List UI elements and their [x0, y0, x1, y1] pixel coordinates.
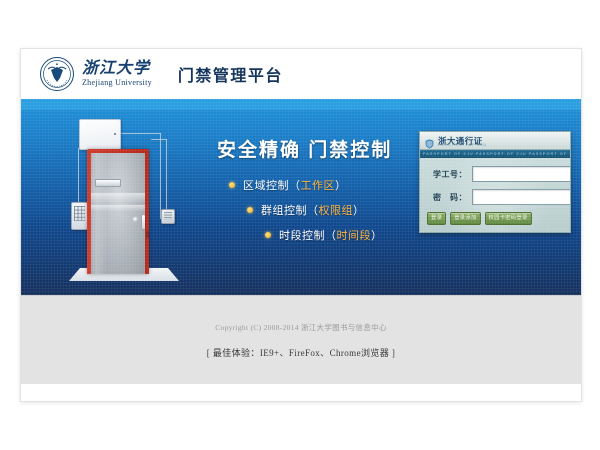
shield-icon	[425, 136, 434, 146]
door-sheen	[91, 153, 107, 274]
list-item: 区域控制（工作区）	[229, 177, 383, 193]
wire-controller-down	[160, 133, 161, 219]
browser-support-note: [ 最佳体验：IE9+、FireFox、Chrome浏览器 ]	[207, 346, 395, 359]
campus-card-login-button[interactable]: 校园卡密码登录	[485, 212, 532, 225]
card-reader	[161, 209, 175, 224]
keypad-keys-icon	[74, 206, 85, 221]
zju-seal-icon	[39, 56, 75, 92]
wire-reader-down	[166, 139, 167, 215]
feature-prefix: 群组控制（	[261, 202, 319, 218]
access-controller-box	[79, 119, 121, 150]
password-label: 密 码：	[427, 192, 467, 203]
feature-highlight: 权限组	[319, 202, 354, 218]
username-input[interactable]	[472, 166, 570, 182]
feature-highlight: 工作区	[301, 177, 336, 193]
banner-headline: 安全精确 门禁控制	[217, 135, 392, 162]
logo-name-cn: 浙江大学	[82, 61, 152, 77]
banner-top-band	[21, 99, 581, 110]
login-button[interactable]: 登录	[427, 212, 446, 225]
wire-reader-branch	[151, 139, 167, 140]
login-add-button[interactable]: 登录添加	[450, 212, 480, 225]
door-knob-icon	[133, 217, 138, 222]
username-label: 学工号：	[427, 169, 467, 180]
feature-prefix: 区域控制（	[243, 177, 301, 193]
login-panel-subtitle: PASSPORT OF ZJU	[438, 143, 487, 147]
list-item: 时段控制（时间段）	[265, 227, 383, 243]
login-form: 学工号： 密 码： 登录 登录添加 校园卡密码登录	[420, 158, 570, 232]
feature-suffix: ）	[353, 202, 365, 218]
bullet-dot-icon	[247, 207, 253, 213]
site-header: 浙江大学 Zhejiang University 门禁管理平台	[21, 49, 581, 99]
login-panel-titlebar: 浙大通行证 PASSPORT OF ZJU	[420, 132, 570, 150]
wire-controller-top	[119, 133, 161, 134]
bullet-dot-icon	[229, 182, 235, 188]
login-button-row: 登录 登录添加 校园卡密码登录	[427, 212, 563, 225]
door-band-lower	[91, 205, 145, 211]
door-band-upper	[91, 193, 145, 202]
password-input[interactable]	[472, 189, 570, 205]
bullet-dot-icon	[265, 232, 271, 238]
door-leaf	[91, 153, 145, 274]
passport-watermark-strip: PASSPORT OF ZJU PASSPORT OF ZJU PASSPORT…	[420, 150, 570, 158]
copyright-text: Copyright (C) 2008-2014 浙江大学图书与信息中心	[215, 322, 387, 333]
list-item: 群组控制（权限组）	[247, 202, 383, 218]
access-control-illustration	[51, 117, 186, 289]
feature-prefix: 时段控制（	[279, 227, 337, 243]
hero-banner: 安全精确 门禁控制 区域控制（工作区） 群组控制（权限组） 时段控制（时间段）	[21, 99, 581, 295]
logo-name-en: Zhejiang University	[82, 79, 152, 87]
site-footer: Copyright (C) 2008-2014 浙江大学图书与信息中心 [ 最佳…	[21, 295, 581, 384]
feature-list: 区域控制（工作区） 群组控制（权限组） 时段控制（时间段）	[229, 177, 383, 252]
username-row: 学工号：	[427, 166, 563, 182]
controller-led-icon	[114, 133, 116, 135]
door-closer	[95, 179, 121, 187]
logo-wordmark: 浙江大学 Zhejiang University	[82, 61, 152, 87]
feature-suffix: ）	[335, 177, 347, 193]
security-door	[87, 149, 149, 274]
page-card: 浙江大学 Zhejiang University 门禁管理平台	[20, 48, 582, 402]
login-panel: 浙大通行证 PASSPORT OF ZJU PASSPORT OF ZJU PA…	[419, 131, 571, 233]
page-title: 门禁管理平台	[178, 62, 283, 86]
password-row: 密 码：	[427, 189, 563, 205]
wire-controller-to-keypad	[78, 148, 79, 202]
door-strike-plate	[146, 231, 149, 238]
card-reader-keys-icon	[164, 212, 172, 220]
keypad-reader	[71, 202, 88, 230]
feature-highlight: 时间段	[337, 227, 372, 243]
feature-suffix: ）	[371, 227, 383, 243]
door-handle	[142, 215, 145, 229]
